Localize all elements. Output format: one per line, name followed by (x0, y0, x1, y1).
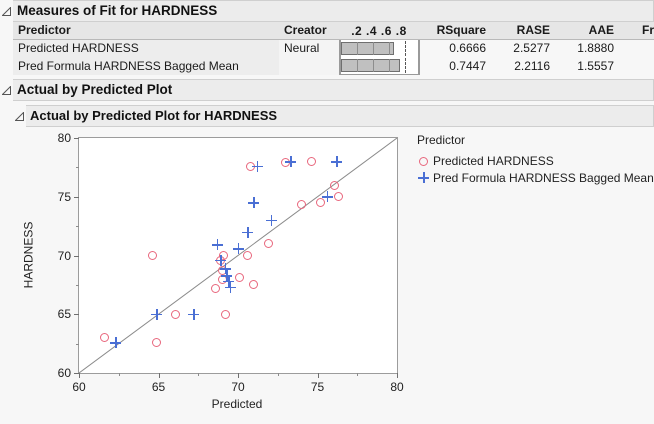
column-header-rsquare-bar-scale[interactable]: .2 .4 .6 .8 (339, 22, 419, 40)
rsquare-bar (341, 59, 401, 72)
disclosure-triangle-icon[interactable] (13, 105, 26, 121)
cell-creator: Neural (279, 40, 339, 58)
data-point-plus[interactable] (188, 309, 199, 320)
data-point-plus[interactable] (322, 191, 333, 202)
column-header-freq[interactable]: Freq (619, 22, 654, 40)
data-point-plus[interactable] (252, 161, 263, 172)
actual-by-predicted-header[interactable]: Actual by Predicted Plot (0, 79, 654, 101)
y-axis-tick-label: 70 (58, 249, 71, 263)
legend-title: Predictor (417, 133, 654, 147)
table-header-row: Predictor Creator .2 .4 .6 .8 RSquare RA… (13, 22, 654, 40)
x-axis-tick (318, 373, 319, 378)
cell-aae: 1.5557 (555, 57, 619, 75)
table-row[interactable]: Pred Formula HARDNESS Bagged Mean 0.7447 (13, 57, 654, 75)
data-point-plus[interactable] (212, 239, 223, 250)
column-header-aae[interactable]: AAE (555, 22, 619, 40)
rsquare-bar (341, 42, 394, 55)
y-axis-minor-tick (76, 226, 79, 227)
legend-item-label: Pred Formula HARDNESS Bagged Mean (433, 171, 654, 185)
table-row[interactable]: Predicted HARDNESS Neural 0.6666 2. (13, 40, 654, 58)
y-axis-minor-tick (76, 167, 79, 168)
data-point-plus[interactable] (331, 156, 342, 167)
measures-of-fit-table: Predictor Creator .2 .4 .6 .8 RSquare RA… (13, 22, 654, 75)
plot-area[interactable]: 60657075806065707580 (78, 137, 398, 374)
y-axis-title-label: HARDNESS (21, 221, 35, 288)
cell-freq: 20 (619, 57, 654, 75)
x-axis-tick-label: 80 (390, 380, 403, 394)
measures-of-fit-header[interactable]: Measures of Fit for HARDNESS (0, 0, 654, 22)
x-axis-minor-tick (357, 373, 358, 376)
legend-item-predicted-hardness[interactable]: Predicted HARDNESS (417, 154, 654, 168)
x-axis-minor-tick (198, 373, 199, 376)
data-point-plus[interactable] (242, 227, 253, 238)
data-point-plus[interactable] (233, 243, 244, 254)
cell-creator (279, 57, 339, 75)
measures-of-fit-title: Measures of Fit for HARDNESS (13, 0, 654, 22)
y-axis-tick (74, 256, 79, 257)
plot-legend: Predictor Predicted HARDNESS Pred Formul… (417, 133, 654, 188)
x-axis-tick (397, 373, 398, 378)
x-axis-tick-label: 75 (311, 380, 324, 394)
legend-item-pred-formula-bagged-mean[interactable]: Pred Formula HARDNESS Bagged Mean (417, 171, 654, 185)
actual-by-predicted-panel: Actual by Predicted Plot (0, 79, 654, 101)
data-point-circle[interactable] (221, 310, 230, 319)
y-axis-tick (74, 314, 79, 315)
cell-rsquare: 0.6666 (419, 40, 491, 58)
disclosure-triangle-icon[interactable] (0, 0, 13, 16)
y-axis-tick-label: 80 (58, 131, 71, 145)
data-point-plus[interactable] (266, 215, 277, 226)
y-axis-tick-label: 75 (58, 190, 71, 204)
x-axis-tick-label: 70 (231, 380, 244, 394)
y-axis-tick (74, 197, 79, 198)
actual-by-predicted-title: Actual by Predicted Plot (13, 79, 654, 101)
data-point-plus[interactable] (151, 309, 162, 320)
cell-aae: 1.8880 (555, 40, 619, 58)
column-header-creator[interactable]: Creator (279, 22, 339, 40)
x-axis-minor-tick (278, 373, 279, 376)
x-axis-minor-tick (119, 373, 120, 376)
plus-marker-icon (417, 172, 433, 184)
x-axis-tick-label: 60 (72, 380, 85, 394)
data-point-circle[interactable] (264, 239, 273, 248)
cell-rase: 2.5277 (491, 40, 555, 58)
data-point-plus[interactable] (110, 337, 121, 348)
data-point-circle[interactable] (330, 181, 339, 190)
x-axis-tick (159, 373, 160, 378)
x-axis-tick (238, 373, 239, 378)
data-point-plus[interactable] (248, 197, 259, 208)
column-header-predictor[interactable]: Predictor (13, 22, 279, 40)
y-axis-tick-label: 60 (58, 366, 71, 380)
y-axis-title: HARDNESS (21, 137, 35, 372)
data-point-circle[interactable] (307, 157, 316, 166)
column-header-rsquare[interactable]: RSquare (419, 22, 491, 40)
cell-rsquare: 0.7447 (419, 57, 491, 75)
cell-rsquare-bar (339, 40, 419, 58)
scatter-plot: HARDNESS 60657075806065707580 Predicted … (13, 127, 654, 409)
cell-predictor: Predicted HARDNESS (13, 40, 279, 58)
y-axis-tick (74, 138, 79, 139)
data-point-circle[interactable] (243, 251, 252, 260)
x-axis-tick-label: 65 (152, 380, 165, 394)
plot-panel-header[interactable]: Actual by Predicted Plot for HARDNESS (13, 105, 654, 127)
disclosure-triangle-icon[interactable] (0, 79, 13, 95)
data-point-plus[interactable] (285, 156, 296, 167)
legend-item-label: Predicted HARDNESS (433, 154, 554, 168)
plot-panel: Actual by Predicted Plot for HARDNESS (13, 105, 654, 127)
x-axis-tick (79, 373, 80, 378)
cell-freq: 20 (619, 40, 654, 58)
cell-rase: 2.2116 (491, 57, 555, 75)
cell-rsquare-bar (339, 57, 419, 75)
circle-marker-icon (417, 155, 433, 167)
data-point-plus[interactable] (225, 282, 236, 293)
plot-panel-title: Actual by Predicted Plot for HARDNESS (26, 105, 654, 127)
y-axis-tick-label: 65 (58, 307, 71, 321)
measures-of-fit-panel: Measures of Fit for HARDNESS Predictor C… (0, 0, 654, 75)
y-axis-minor-tick (76, 344, 79, 345)
y-axis-minor-tick (76, 285, 79, 286)
column-header-rase[interactable]: RASE (491, 22, 555, 40)
identity-reference-line (79, 138, 397, 373)
data-point-circle[interactable] (148, 251, 157, 260)
data-point-circle[interactable] (334, 192, 343, 201)
cell-predictor: Pred Formula HARDNESS Bagged Mean (13, 57, 279, 75)
x-axis-title: Predicted (78, 397, 396, 411)
